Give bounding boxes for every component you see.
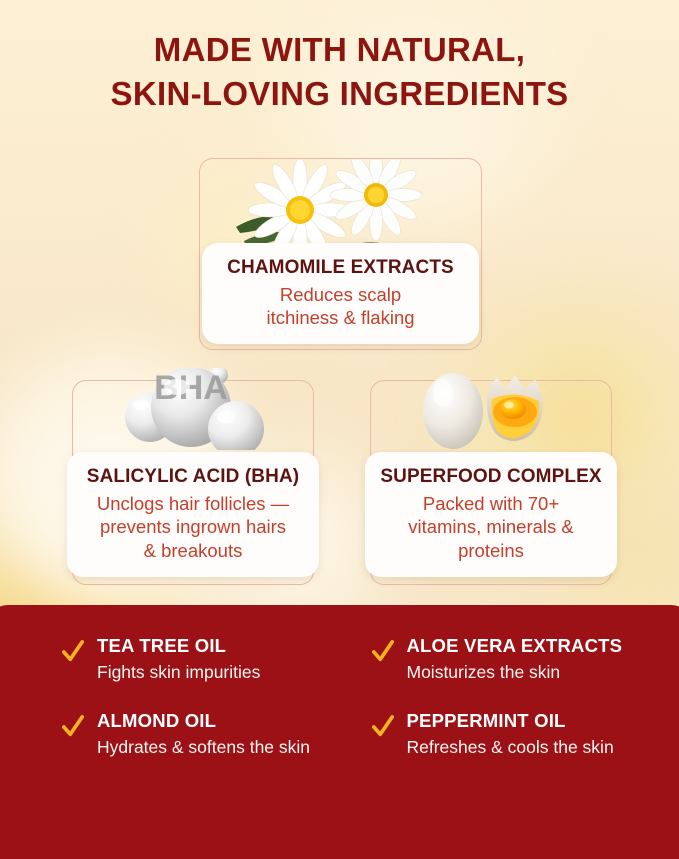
benefit-text: ALMOND OIL Hydrates & softens the skin [97,710,310,759]
benefit-name: ALMOND OIL [97,710,310,732]
card-description: Reduces scalp itchiness & flaking [212,283,469,330]
benefit-item-tea-tree-oil: TEA TREE OIL Fights skin impurities [62,635,358,684]
card-description-line-3: & breakouts [77,539,309,563]
benefit-item-aloe-vera-extracts: ALOE VERA EXTRACTS Moisturizes the skin [372,635,668,684]
page-title-line-2: SKIN-LOVING INGREDIENTS [0,72,679,116]
card-description-line-2: prevents ingrown hairs [77,515,309,539]
egg-yolk-icon [391,368,591,450]
benefit-description: Fights skin impurities [97,661,260,683]
ingredient-card-superfood-complex: SUPERFOOD COMPLEX Packed with 70+ vitami… [370,380,612,585]
benefit-name: ALOE VERA EXTRACTS [407,635,623,657]
card-text-panel: SALICYLIC ACID (BHA) Unclogs hair follic… [67,452,319,577]
benefit-item-peppermint-oil: PEPPERMINT OIL Refreshes & cools the ski… [372,710,668,759]
card-text-panel: CHAMOMILE EXTRACTS Reduces scalp itchine… [202,243,479,344]
card-description-line-1: Reduces scalp [212,283,469,307]
card-title: CHAMOMILE EXTRACTS [212,256,469,280]
benefit-name: PEPPERMINT OIL [407,710,614,732]
benefit-text: ALOE VERA EXTRACTS Moisturizes the skin [407,635,623,684]
benefits-grid: TEA TREE OIL Fights skin impurities ALOE… [62,635,667,758]
page-title: MADE WITH NATURAL, SKIN-LOVING INGREDIEN… [0,28,679,115]
card-text-panel: SUPERFOOD COMPLEX Packed with 70+ vitami… [365,452,617,577]
benefit-item-almond-oil: ALMOND OIL Hydrates & softens the skin [62,710,358,759]
molecule-spheres-icon: BHA [93,368,293,450]
card-description: Packed with 70+ vitamins, minerals & pro… [375,492,607,563]
card-description: Unclogs hair follicles — prevents ingrow… [77,492,309,563]
bha-molecule-image: BHA [72,368,314,450]
benefit-description: Moisturizes the skin [407,661,622,683]
benefit-text: TEA TREE OIL Fights skin impurities [97,635,260,684]
ingredient-card-salicylic-acid: BHA SALICYLIC ACID (BHA) Unclogs hair fo… [72,380,314,585]
benefit-name: TEA TREE OIL [97,635,260,657]
benefits-panel: TEA TREE OIL Fights skin impurities ALOE… [0,605,679,859]
check-icon [372,714,394,740]
check-icon [372,639,394,665]
check-icon [62,639,84,665]
card-description-line-2: itchiness & flaking [212,306,469,330]
card-description-line-3: proteins [375,539,607,563]
card-title: SUPERFOOD COMPLEX [375,465,607,489]
benefit-text: PEPPERMINT OIL Refreshes & cools the ski… [407,710,614,759]
ingredient-card-chamomile: CHAMOMILE EXTRACTS Reduces scalp itchine… [199,158,482,350]
benefit-description: Hydrates & softens the skin [97,736,310,758]
cracked-egg-image [370,368,612,450]
card-description-line-1: Packed with 70+ [375,492,607,516]
card-description-line-2: vitamins, minerals & [375,515,607,539]
card-title: SALICYLIC ACID (BHA) [77,465,309,489]
card-description-line-1: Unclogs hair follicles — [77,492,309,516]
check-icon [62,714,84,740]
page-title-line-1: MADE WITH NATURAL, [0,28,679,72]
benefit-description: Refreshes & cools the skin [407,736,614,758]
